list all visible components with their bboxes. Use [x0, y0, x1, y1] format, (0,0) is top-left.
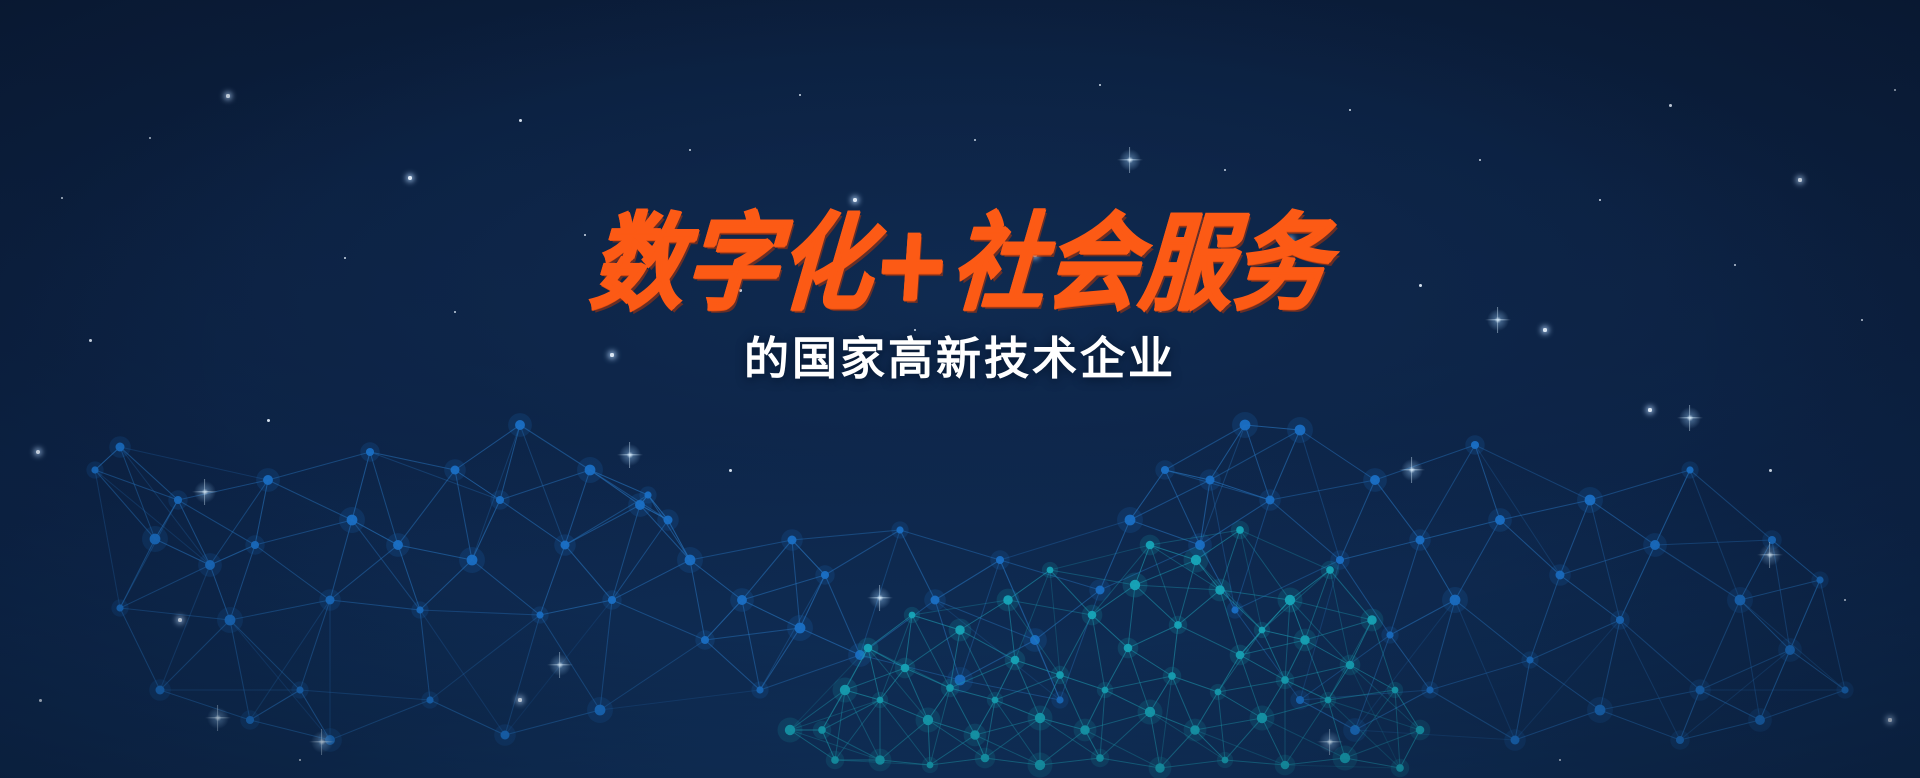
network-mesh-teal — [0, 0, 1920, 778]
hero-banner: 数字化+社会服务 的国家高新技术企业 — [0, 0, 1920, 778]
banner-text-block: 数字化+社会服务 的国家高新技术企业 — [0, 218, 1920, 381]
banner-subtitle: 的国家高新技术企业 — [0, 336, 1920, 381]
banner-headline: 数字化+社会服务 — [0, 212, 1920, 317]
